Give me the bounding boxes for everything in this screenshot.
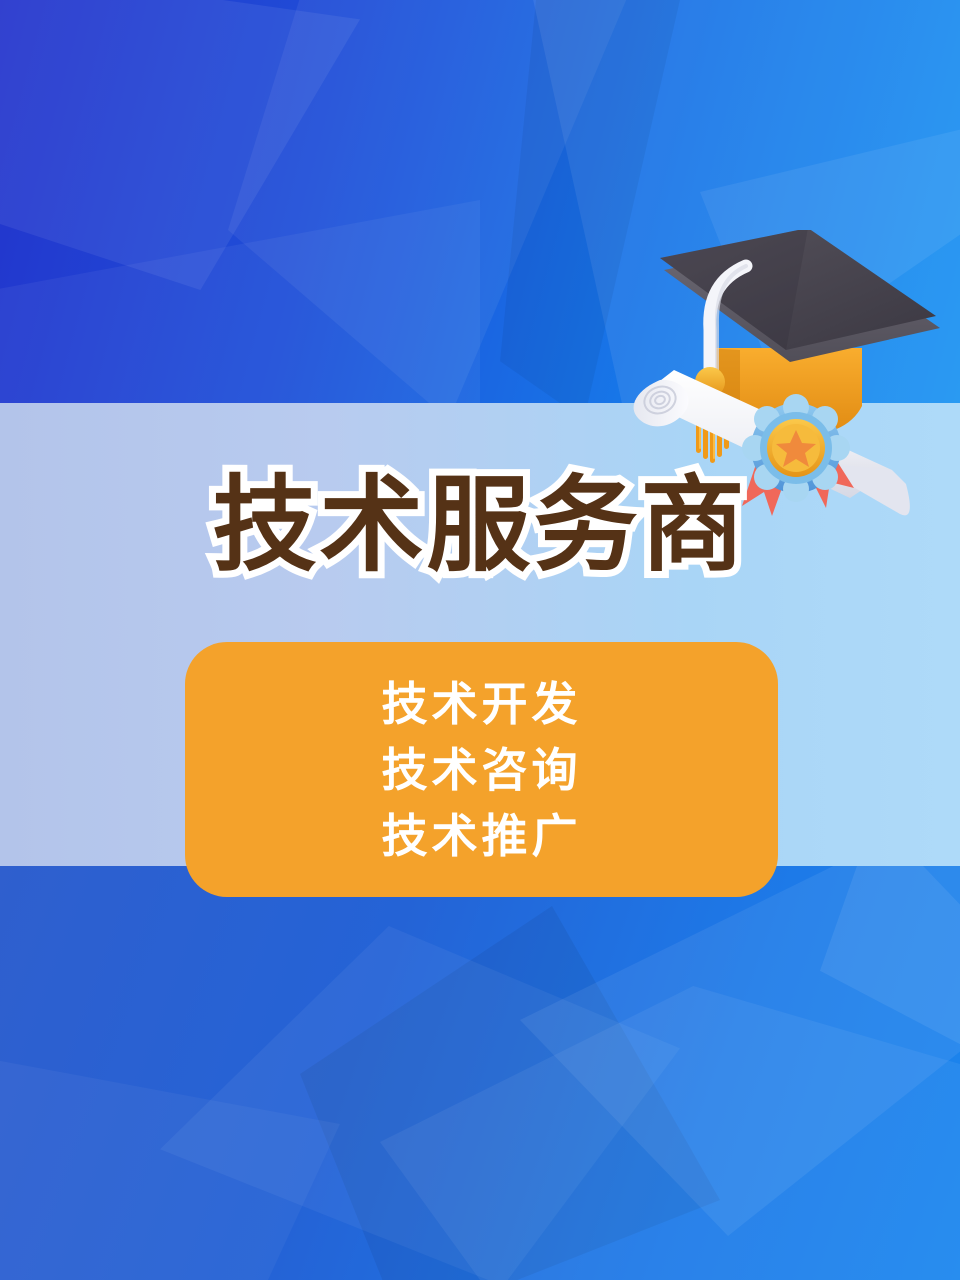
service-item-1: 技术开发	[382, 671, 582, 737]
poster-canvas: 技术服务商 技术开发 技术咨询 技术推广	[0, 0, 960, 1280]
service-item-3: 技术推广	[382, 803, 582, 869]
service-item-2: 技术咨询	[382, 737, 582, 803]
service-list-card: 技术开发 技术咨询 技术推广	[185, 642, 778, 897]
page-title: 技术服务商	[0, 466, 960, 584]
bottom-background-band	[0, 866, 960, 1280]
